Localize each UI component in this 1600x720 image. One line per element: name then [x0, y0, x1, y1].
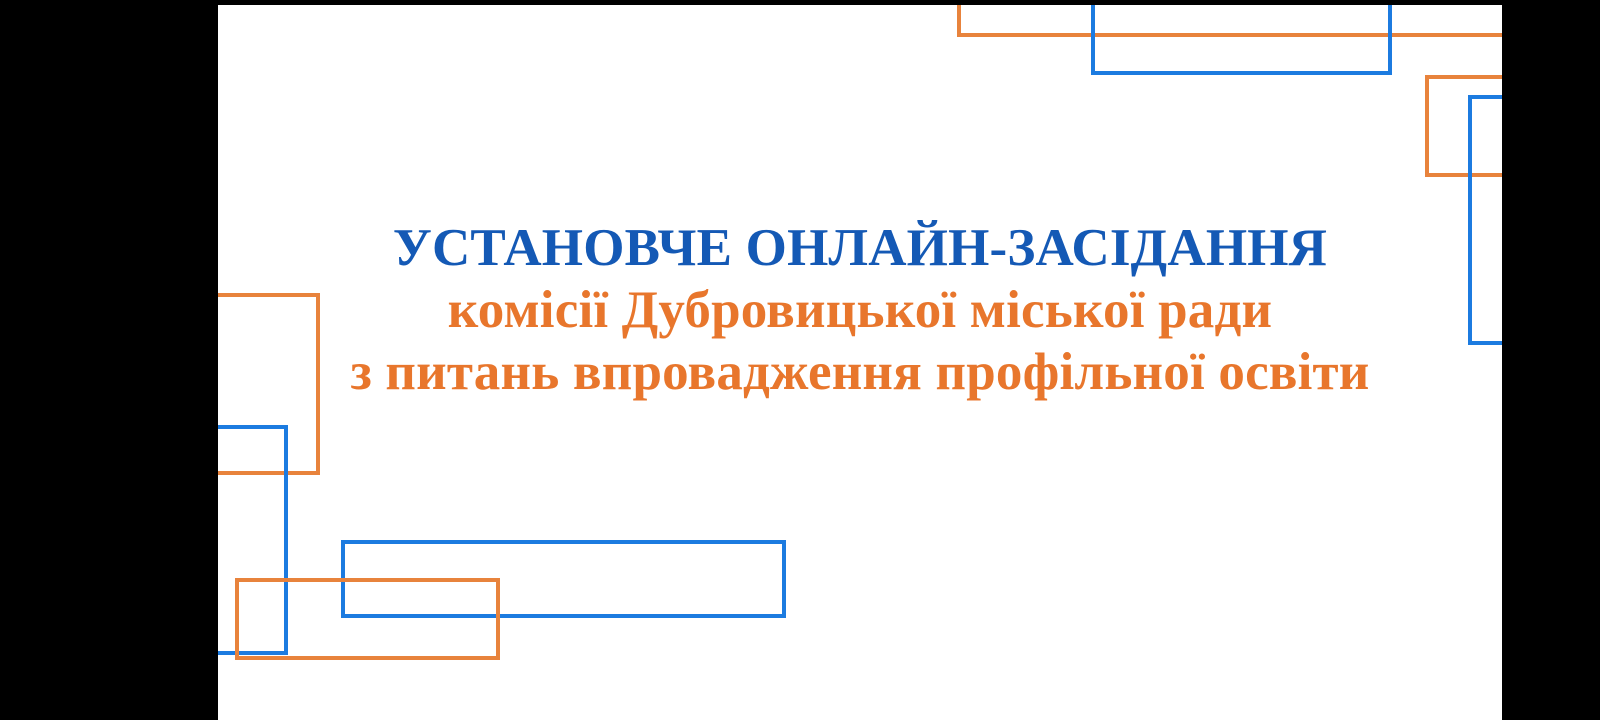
- decor-left-blue-rect: [218, 425, 288, 655]
- decor-bottom-orange-rect: [235, 578, 500, 660]
- slide-root: УСТАНОВЧЕ ОНЛАЙН-ЗАСІДАННЯ комісії Дубро…: [0, 0, 1600, 720]
- decor-top-blue-rect: [1091, 5, 1392, 75]
- decor-bottom-blue-rect: [341, 540, 786, 618]
- title-line-secondary: комісії Дубровицької міської ради: [218, 279, 1502, 341]
- title-line-tertiary: з питань впровадження профільної освіти: [218, 341, 1502, 403]
- decor-top-orange-bar: [957, 5, 1502, 37]
- slide-canvas: УСТАНОВЧЕ ОНЛАЙН-ЗАСІДАННЯ комісії Дубро…: [218, 5, 1502, 720]
- decor-right-orange-rect: [1425, 75, 1502, 177]
- title-line-primary: УСТАНОВЧЕ ОНЛАЙН-ЗАСІДАННЯ: [218, 217, 1502, 279]
